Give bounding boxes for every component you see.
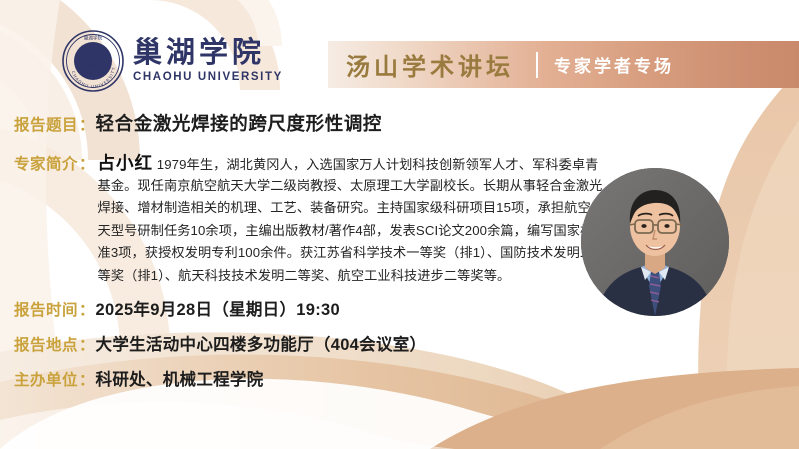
bio-line: 天型号研制任务10余项，主编出版教材/著作4部，发表SCI论文200余篇，编写国… — [98, 220, 605, 243]
speaker-portrait — [581, 168, 729, 316]
banner-divider — [536, 52, 538, 78]
report-title-row: 报告题目 ： 轻合金激光焊接的跨尺度形性调控 — [14, 110, 382, 136]
bio-line: 准3项，获授权发明专利100余件。获江苏省科学技术一等奖（排1）、国防技术发明二 — [98, 242, 605, 265]
bio-line: 焊接、增材制造相关的机理、工艺、装备研究。主持国家级科研项目15项，承担航空航 — [98, 197, 605, 220]
banner-main-title: 汤山学术讲坛 — [346, 47, 514, 82]
report-host-row: 主办单位 ： 科研处、机械工程学院 — [14, 366, 264, 390]
university-logo-block: 1977 巢湖学院 CHAOHU UNIVERSITY 巢湖学院 CHAOHU … — [62, 30, 283, 92]
speaker-bio-text: 占小红 1979年生，湖北黄冈人，入选国家万人计划科技创新领军人才、军科委卓青 … — [98, 152, 605, 288]
bio-line: 占小红 1979年生，湖北黄冈人，入选国家万人计划科技创新领军人才、军科委卓青 — [98, 152, 605, 175]
svg-text:巢湖学院: 巢湖学院 — [84, 35, 103, 42]
speaker-name: 占小红 — [98, 153, 154, 173]
bio-line: 基金。现任南京航空航天大学二级岗教授、太原理工大学副校长。长期从事轻合金激光 — [98, 175, 605, 198]
report-time-row: 报告时间 ： 2025年9月28日（星期日）19:30 — [14, 296, 340, 320]
report-title-colon: ： — [79, 113, 95, 135]
report-place-row: 报告地点 ： 大学生活动中心四楼多功能厅（404会议室） — [14, 331, 426, 355]
report-place-value: 大学生活动中心四楼多功能厅（404会议室） — [96, 331, 427, 355]
svg-text:1977: 1977 — [88, 62, 99, 67]
banner-subtitle: 专家学者专场 — [554, 52, 674, 77]
report-title-value: 轻合金激光焊接的跨尺度形性调控 — [96, 110, 383, 136]
bio-line-text: 1979年生，湖北黄冈人，入选国家万人计划科技创新领军人才、军科委卓青 — [157, 157, 599, 172]
university-name-en: CHAOHU UNIVERSITY — [133, 71, 283, 85]
speaker-bio-label: 专家简介 — [14, 152, 78, 174]
poster-canvas: 1977 巢湖学院 CHAOHU UNIVERSITY 巢湖学院 CHAOHU … — [0, 0, 799, 449]
bio-line: 等奖（排1）、航天科技技术发明二等奖、航空工业科技进步二等奖等。 — [98, 265, 605, 288]
university-names: 巢湖学院 CHAOHU UNIVERSITY — [133, 37, 283, 84]
report-title-label: 报告题目 — [14, 113, 78, 135]
report-place-colon: ： — [79, 333, 95, 355]
speaker-bio-body: 占小红 1979年生，湖北黄冈人，入选国家万人计划科技创新领军人才、军科委卓青 … — [98, 152, 605, 288]
report-time-value: 2025年9月28日（星期日）19:30 — [96, 296, 340, 320]
poster-header: 1977 巢湖学院 CHAOHU UNIVERSITY 巢湖学院 CHAOHU … — [0, 0, 799, 108]
report-time-colon: ： — [79, 298, 95, 320]
chaohu-university-seal-icon: 1977 巢湖学院 CHAOHU UNIVERSITY — [62, 30, 124, 92]
speaker-bio-colon: ： — [79, 152, 95, 174]
lecture-series-banner: 汤山学术讲坛 专家学者专场 — [328, 41, 799, 88]
report-place-label: 报告地点 — [14, 333, 78, 355]
report-time-label: 报告时间 — [14, 298, 78, 320]
university-name-cn: 巢湖学院 — [133, 37, 283, 67]
report-host-value: 科研处、机械工程学院 — [96, 366, 264, 390]
report-host-colon: ： — [79, 368, 95, 390]
report-host-label: 主办单位 — [14, 368, 78, 390]
speaker-bio-row: 专家简介 ： 占小红 1979年生，湖北黄冈人，入选国家万人计划科技创新领军人才… — [14, 152, 559, 288]
